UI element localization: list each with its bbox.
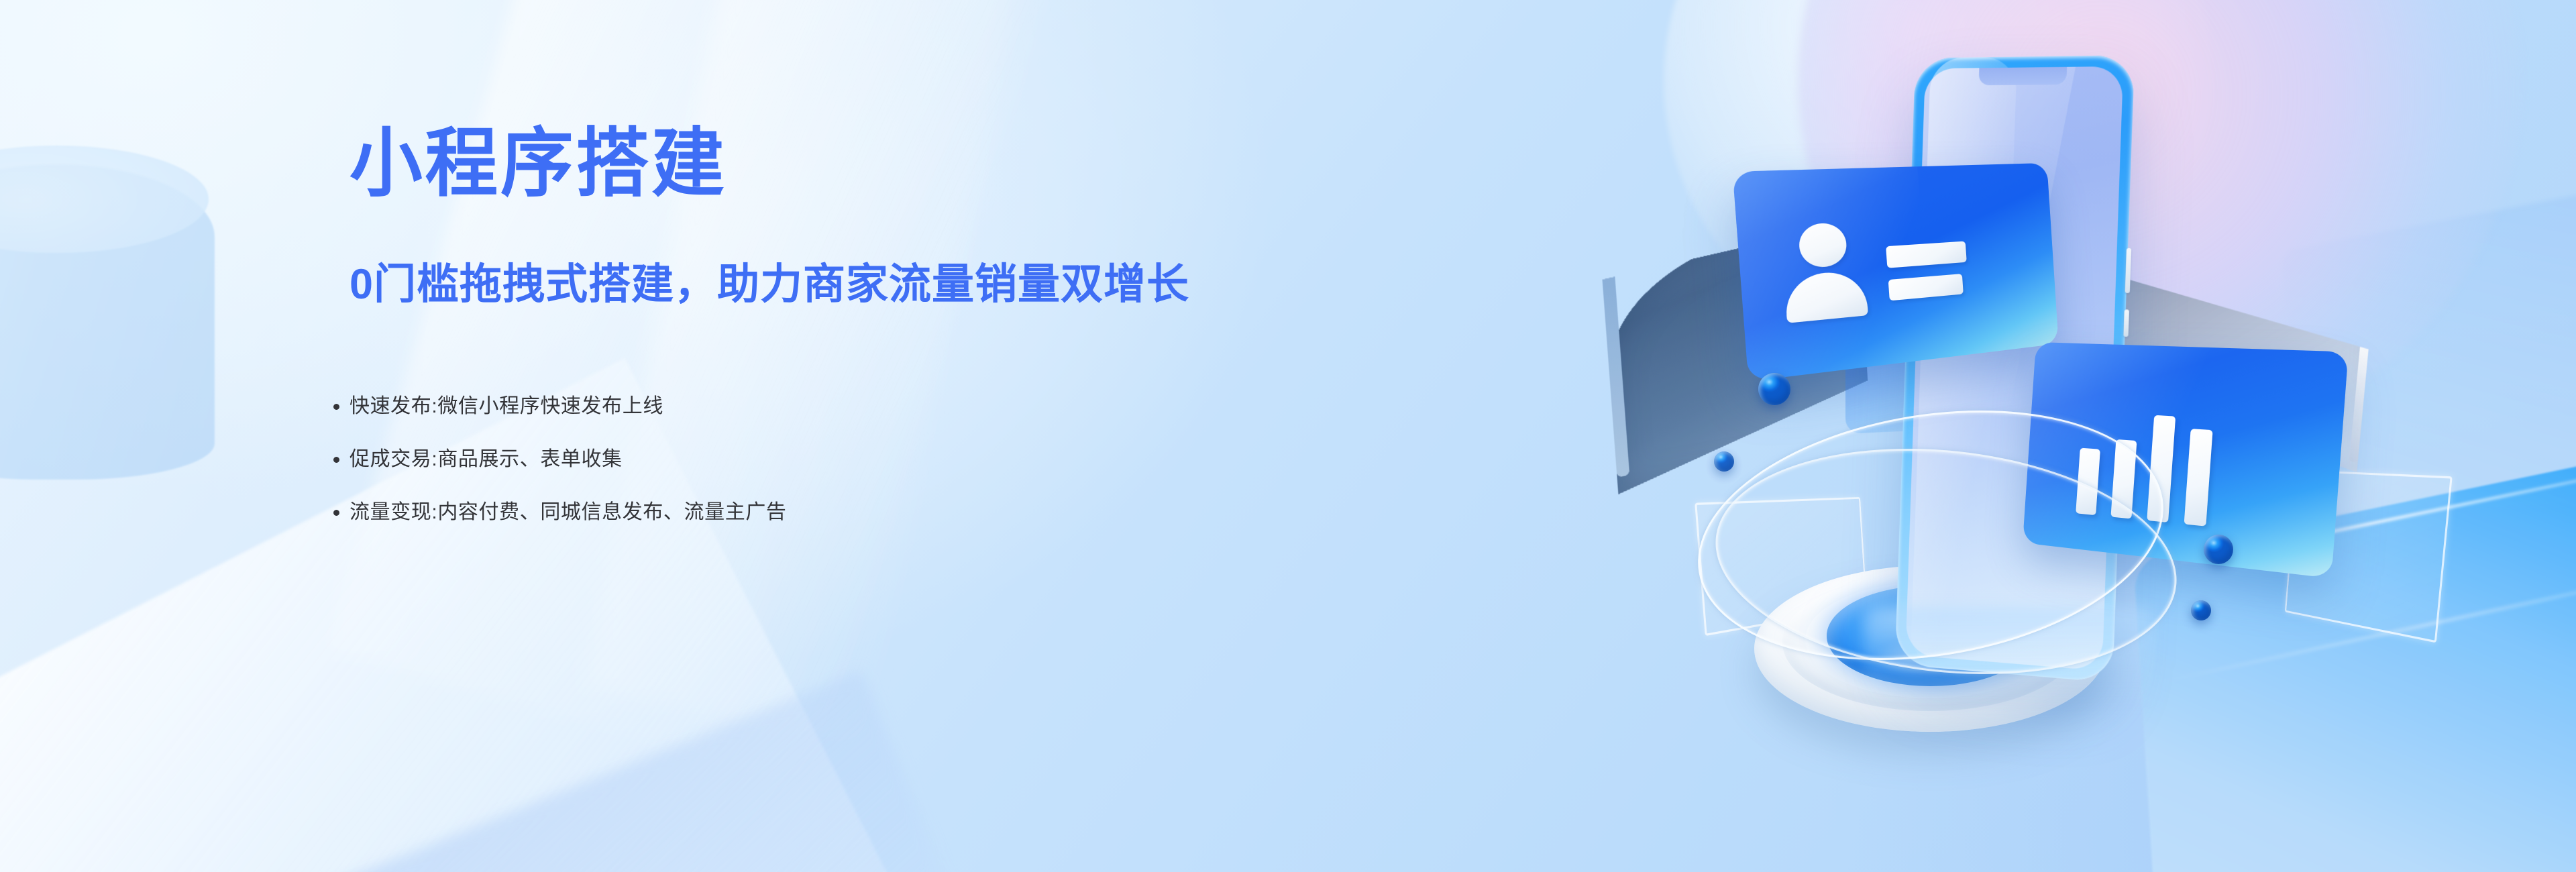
hero-illustration bbox=[1597, 0, 2402, 872]
profile-card bbox=[1733, 163, 2059, 382]
person-icon bbox=[1780, 221, 1868, 323]
phone-power-button-icon bbox=[2123, 309, 2129, 337]
banner-copy: 小程序搭建 0门槛拖拽式搭建，助力商家流量销量双增长 快速发布:微信小程序快速发… bbox=[350, 0, 1356, 872]
orbit-sphere-3 bbox=[2204, 535, 2233, 564]
orbit-sphere-4 bbox=[2191, 600, 2211, 620]
cylinder-shape-icon bbox=[0, 164, 215, 480]
profile-text-bar-1 bbox=[1886, 241, 1967, 268]
marketing-banner: 小程序搭建 0门槛拖拽式搭建，助力商家流量销量双增长 快速发布:微信小程序快速发… bbox=[0, 0, 2576, 872]
phone-notch bbox=[1979, 67, 2068, 85]
page-subtitle: 0门槛拖拽式搭建，助力商家流量销量双增长 bbox=[350, 262, 1189, 308]
orbit-sphere-2 bbox=[1714, 451, 1734, 472]
feature-list: 快速发布:微信小程序快速发布上线 促成交易:商品展示、表单收集 流量变现:内容付… bbox=[350, 394, 787, 525]
page-title: 小程序搭建 bbox=[350, 124, 727, 203]
list-item: 快速发布:微信小程序快速发布上线 bbox=[350, 394, 787, 419]
orbit-sphere-1 bbox=[1758, 373, 1790, 405]
chart-bar bbox=[2184, 429, 2213, 527]
list-item: 促成交易:商品展示、表单收集 bbox=[350, 447, 787, 472]
list-item: 流量变现:内容付费、同城信息发布、流量主广告 bbox=[350, 500, 787, 525]
person-head-shape bbox=[1798, 222, 1848, 268]
person-body-shape bbox=[1784, 270, 1868, 323]
